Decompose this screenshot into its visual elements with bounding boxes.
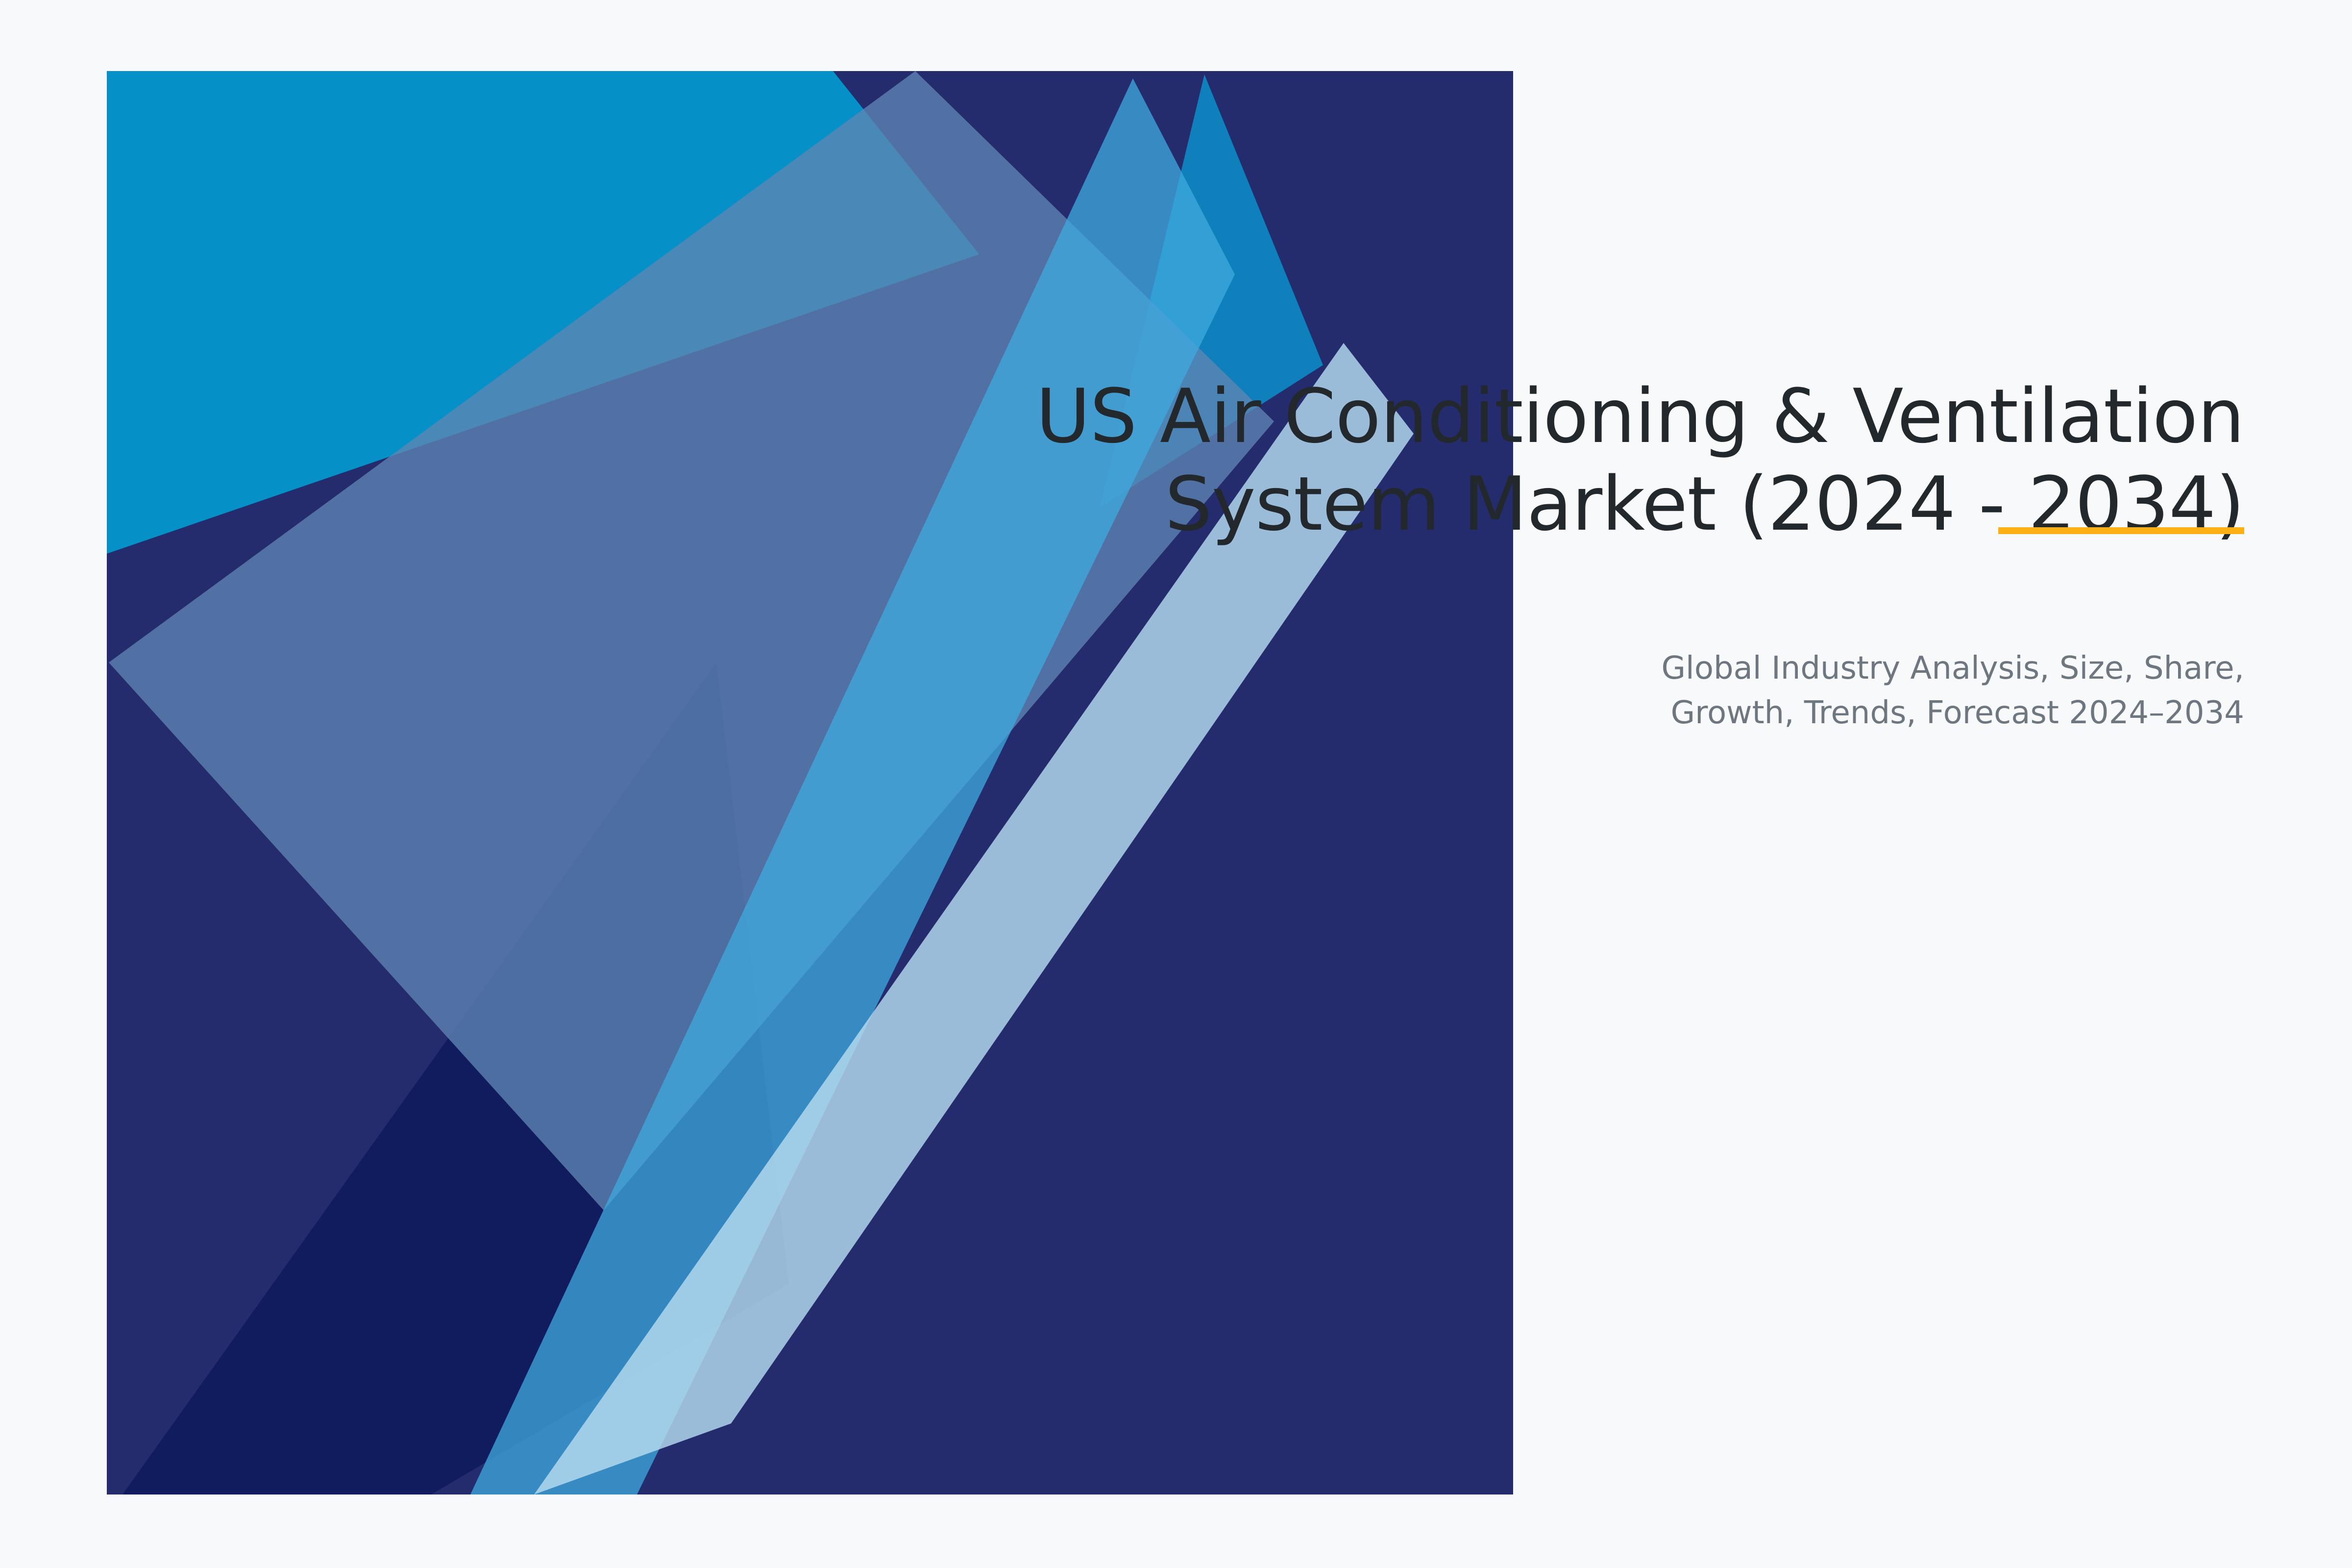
- cyan-field-shape: [107, 71, 1513, 1494]
- sky-band-shape: [470, 78, 1235, 1494]
- title-line-1: US Air Conditioning & Ventilation: [1036, 373, 2244, 460]
- subtitle-line-1: Global Industry Analysis, Size, Share,: [1661, 650, 2244, 686]
- page-title: US Air Conditioning & Ventilation System…: [955, 372, 2244, 548]
- report-cover-page: US Air Conditioning & Ventilation System…: [0, 0, 2352, 1568]
- title-line-2: System Market (2024 - 2034): [1165, 461, 2244, 547]
- page-subtitle: Global Industry Analysis, Size, Share, G…: [1622, 646, 2244, 735]
- subtitle-wrap: Global Industry Analysis, Size, Share, G…: [955, 646, 2244, 735]
- navy-wedge-shape: [107, 71, 1513, 1494]
- deep-navy-spike-shape: [122, 662, 789, 1494]
- cover-text-block: US Air Conditioning & Ventilation System…: [955, 372, 2244, 735]
- abstract-polygon-cover-graphic: [0, 0, 2352, 1568]
- subtitle-line-2: Growth, Trends, Forecast 2024–2034: [1671, 695, 2244, 731]
- highlight-rule: [1998, 527, 2244, 534]
